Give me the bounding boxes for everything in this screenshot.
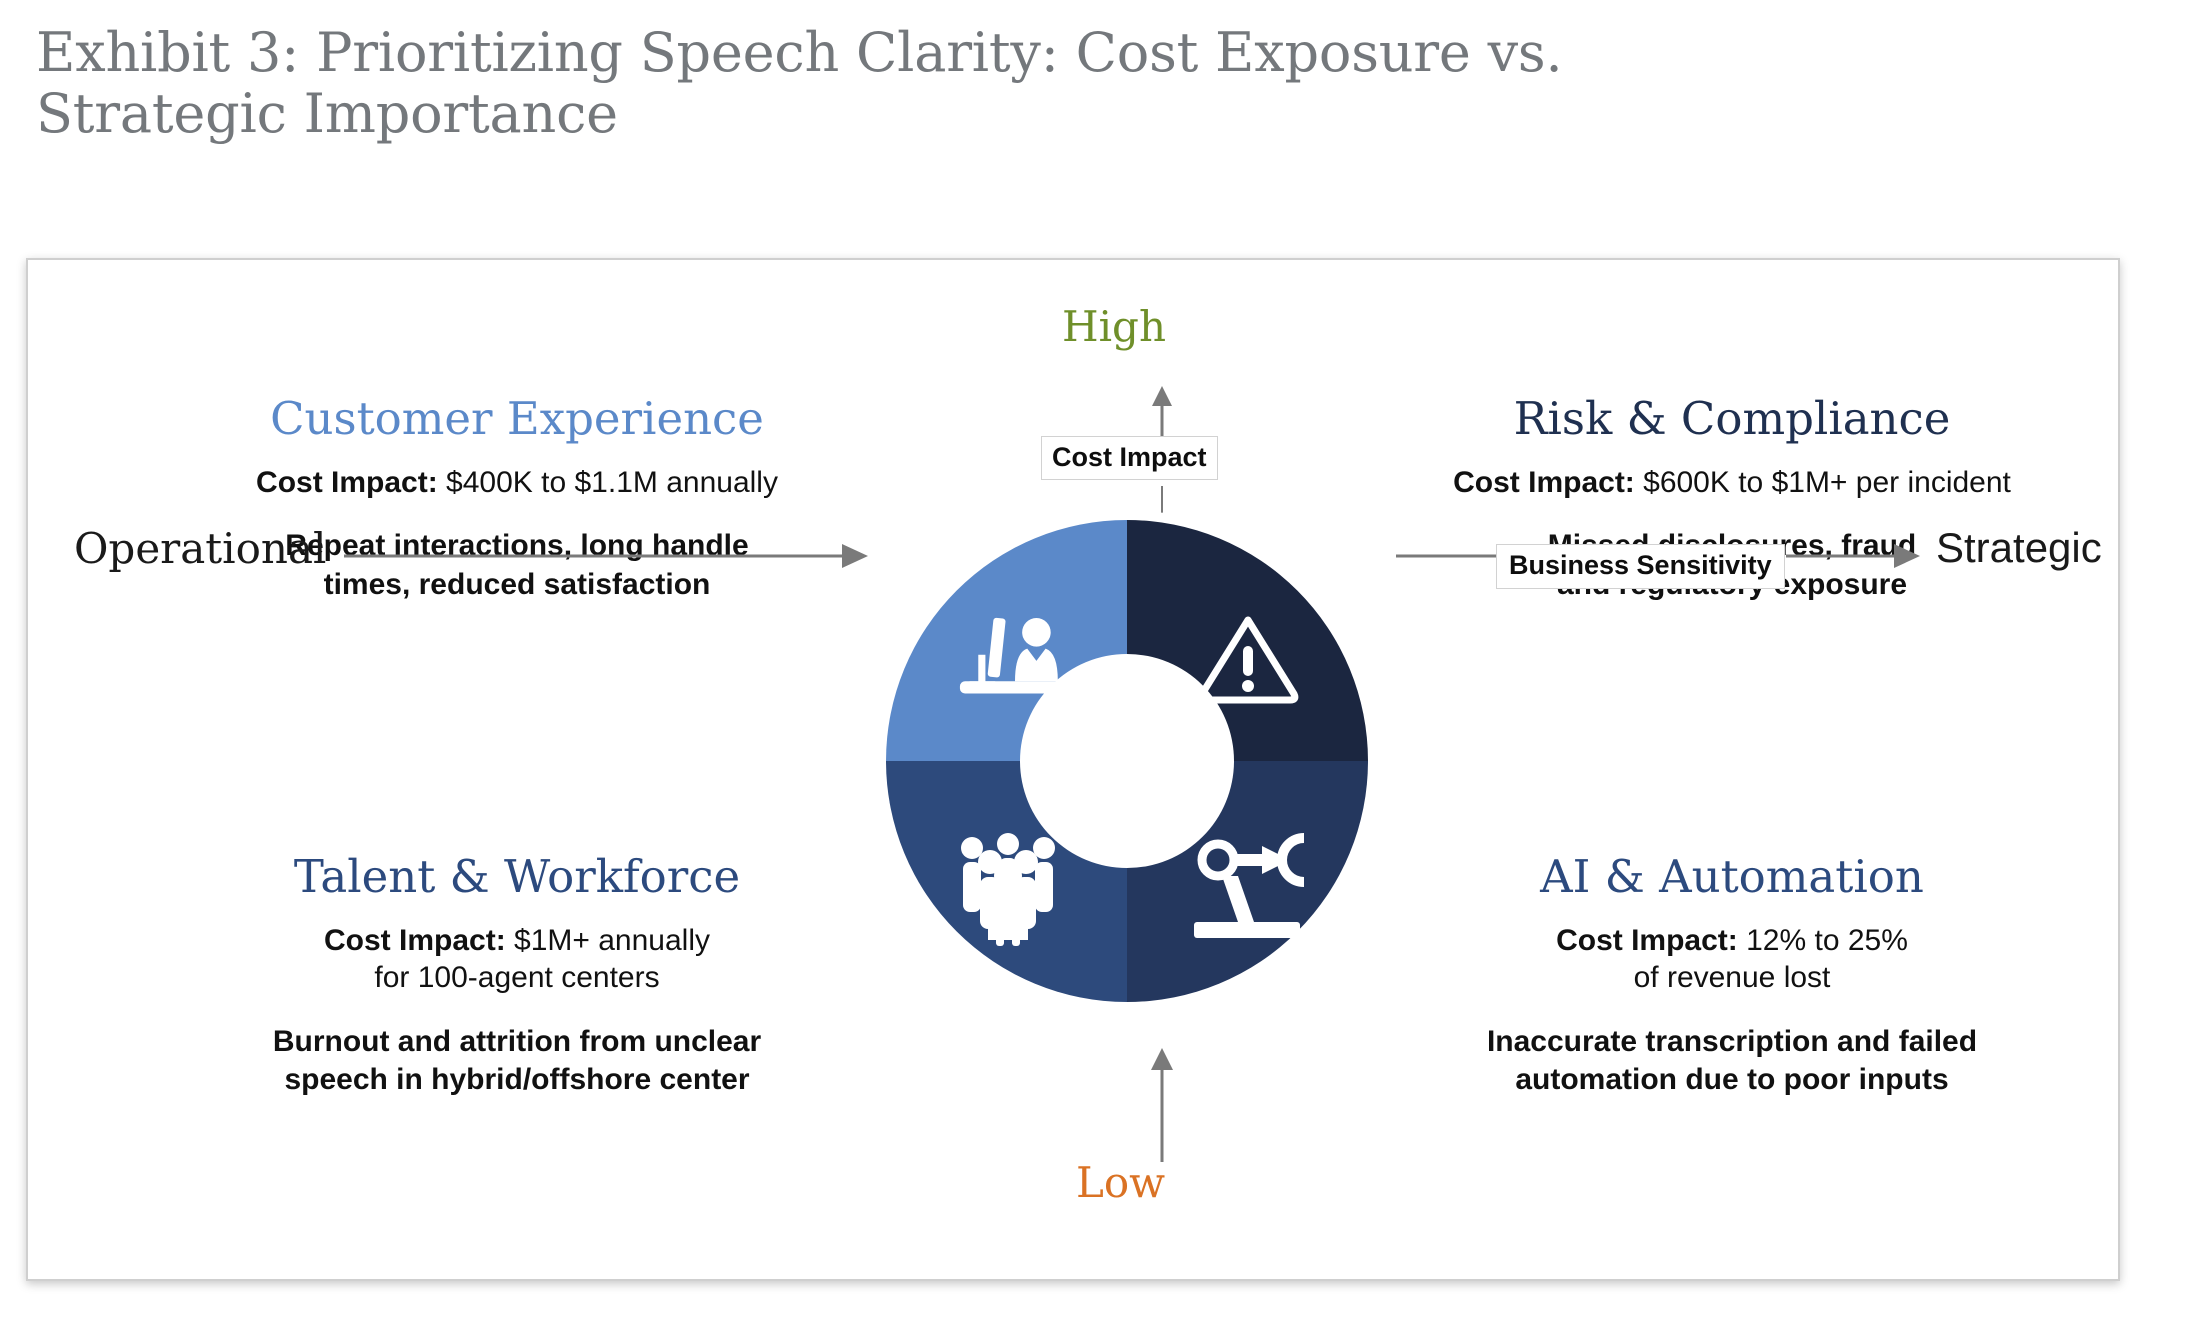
quadrant-donut-chart — [886, 520, 1368, 1002]
exhibit-card: Customer Experience Cost Impact: $400K t… — [26, 258, 2120, 1281]
axis-arrow-operational — [344, 536, 874, 576]
page-title: Exhibit 3: Prioritizing Speech Clarity: … — [36, 22, 1836, 144]
axis-chip-business-sensitivity: Business Sensitivity — [1496, 544, 1785, 589]
quadrant-title-customer-experience: Customer Experience — [122, 394, 912, 444]
cost-impact-label: Cost Impact: — [1453, 466, 1635, 499]
cost-impact-value: $400K to $1.1M annually — [438, 466, 778, 499]
axis-label-high: High — [1062, 302, 1166, 351]
axis-line-right-start — [1396, 536, 1496, 576]
axis-arrow-up-top — [1062, 384, 1262, 444]
axis-arrow-up-bottom — [1062, 1042, 1262, 1162]
quadrant-description-talent-workforce: Burnout and attrition from unclear speec… — [122, 1023, 912, 1100]
quadrant-cost-risk-compliance: Cost Impact: $600K to $1M+ per incident — [1332, 464, 2132, 502]
quadrant-ai-automation: AI & Automation Cost Impact: 12% to 25% … — [1332, 852, 2132, 1100]
axis-label-operational: Operational — [74, 524, 326, 573]
donut-slice-ai-automation[interactable] — [1127, 761, 1368, 1002]
axis-chip-cost-impact: Cost Impact — [1041, 436, 1218, 480]
donut-slice-risk-compliance[interactable] — [1127, 520, 1368, 761]
cost-impact-label: Cost Impact: — [324, 924, 506, 957]
quadrant-description-ai-automation: Inaccurate transcription and failed auto… — [1332, 1023, 2132, 1100]
axis-label-low: Low — [1076, 1158, 1165, 1207]
quadrant-title-ai-automation: AI & Automation — [1332, 852, 2132, 902]
quadrant-cost-talent-workforce: Cost Impact: $1M+ annually for 100-agent… — [122, 922, 912, 998]
axis-arrow-strategic — [1786, 536, 1926, 576]
exhibit-page: Exhibit 3: Prioritizing Speech Clarity: … — [0, 0, 2211, 1319]
axis-line-cost-impact-lower — [1062, 486, 1262, 526]
cost-impact-label: Cost Impact: — [256, 466, 438, 499]
donut-slice-customer-experience[interactable] — [886, 520, 1127, 761]
donut-svg — [886, 520, 1368, 1002]
quadrant-title-risk-compliance: Risk & Compliance — [1332, 394, 2132, 444]
axis-label-strategic: Strategic — [1936, 524, 2102, 572]
cost-impact-label: Cost Impact: — [1556, 924, 1738, 957]
quadrant-cost-ai-automation: Cost Impact: 12% to 25% of revenue lost — [1332, 922, 2132, 998]
quadrant-cost-customer-experience: Cost Impact: $400K to $1.1M annually — [122, 464, 912, 502]
quadrant-title-talent-workforce: Talent & Workforce — [122, 852, 912, 902]
quadrant-talent-workforce: Talent & Workforce Cost Impact: $1M+ ann… — [122, 852, 912, 1100]
cost-impact-value: $600K to $1M+ per incident — [1635, 466, 2011, 499]
